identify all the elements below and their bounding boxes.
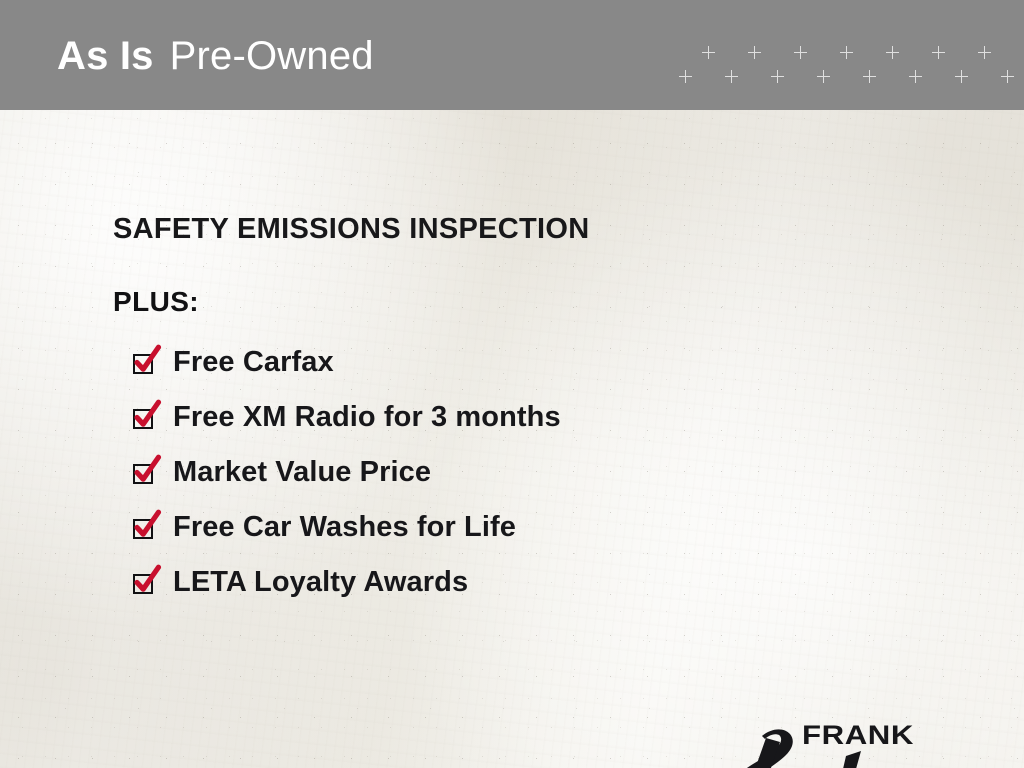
checkbox-checked-icon[interactable] <box>133 351 157 375</box>
checkbox-checked-icon[interactable] <box>133 516 157 540</box>
check-mark-icon <box>131 399 163 431</box>
plus-icon <box>702 46 715 59</box>
benefit-label: Free XM Radio for 3 months <box>173 403 561 432</box>
slide-canvas: As IsPre-Owned SAFETY EMISSIONS INSPECTI… <box>0 0 1024 768</box>
plus-icon <box>932 46 945 59</box>
plus-label: PLUS: <box>113 288 199 316</box>
benefit-label: Market Value Price <box>173 458 431 487</box>
benefit-item: Market Value Price <box>133 445 833 500</box>
plus-icon <box>840 46 853 59</box>
title-regular-part: Pre-Owned <box>170 34 374 78</box>
benefit-label: Free Car Washes for Life <box>173 513 516 542</box>
plus-icon <box>817 70 830 83</box>
benefit-label: LETA Loyalty Awards <box>173 568 468 597</box>
page-title: As IsPre-Owned <box>57 36 374 76</box>
benefit-item: Free Carfax <box>133 335 833 390</box>
frank-leta-logo: FRANK <box>706 714 921 768</box>
slide-content: SAFETY EMISSIONS INSPECTION PLUS: Free C… <box>0 110 1024 768</box>
plus-icon <box>725 70 738 83</box>
plus-icon <box>978 46 991 59</box>
check-mark-icon <box>131 454 163 486</box>
checkbox-checked-icon[interactable] <box>133 571 157 595</box>
benefits-list: Free CarfaxFree XM Radio for 3 monthsMar… <box>133 335 833 610</box>
check-mark-icon <box>131 344 163 376</box>
benefit-label: Free Carfax <box>173 348 334 377</box>
plus-icon <box>886 46 899 59</box>
plus-icon <box>863 70 876 83</box>
plus-icon <box>679 70 692 83</box>
plus-icon <box>794 46 807 59</box>
benefit-item: Free Car Washes for Life <box>133 500 833 555</box>
checkbox-checked-icon[interactable] <box>133 406 157 430</box>
check-mark-icon <box>131 564 163 596</box>
logo-frank-text: FRANK <box>802 720 914 750</box>
subject-heading: SAFETY EMISSIONS INSPECTION <box>113 215 589 244</box>
benefit-item: Free XM Radio for 3 months <box>133 390 833 445</box>
check-mark-icon <box>131 509 163 541</box>
title-bold-part: As Is <box>57 34 154 78</box>
plus-icon <box>909 70 922 83</box>
plus-icon <box>955 70 968 83</box>
plus-icon <box>1001 70 1014 83</box>
plus-icon <box>771 70 784 83</box>
plus-icon <box>748 46 761 59</box>
checkbox-checked-icon[interactable] <box>133 461 157 485</box>
benefit-item: LETA Loyalty Awards <box>133 555 833 610</box>
header-bar: As IsPre-Owned <box>0 0 1024 110</box>
